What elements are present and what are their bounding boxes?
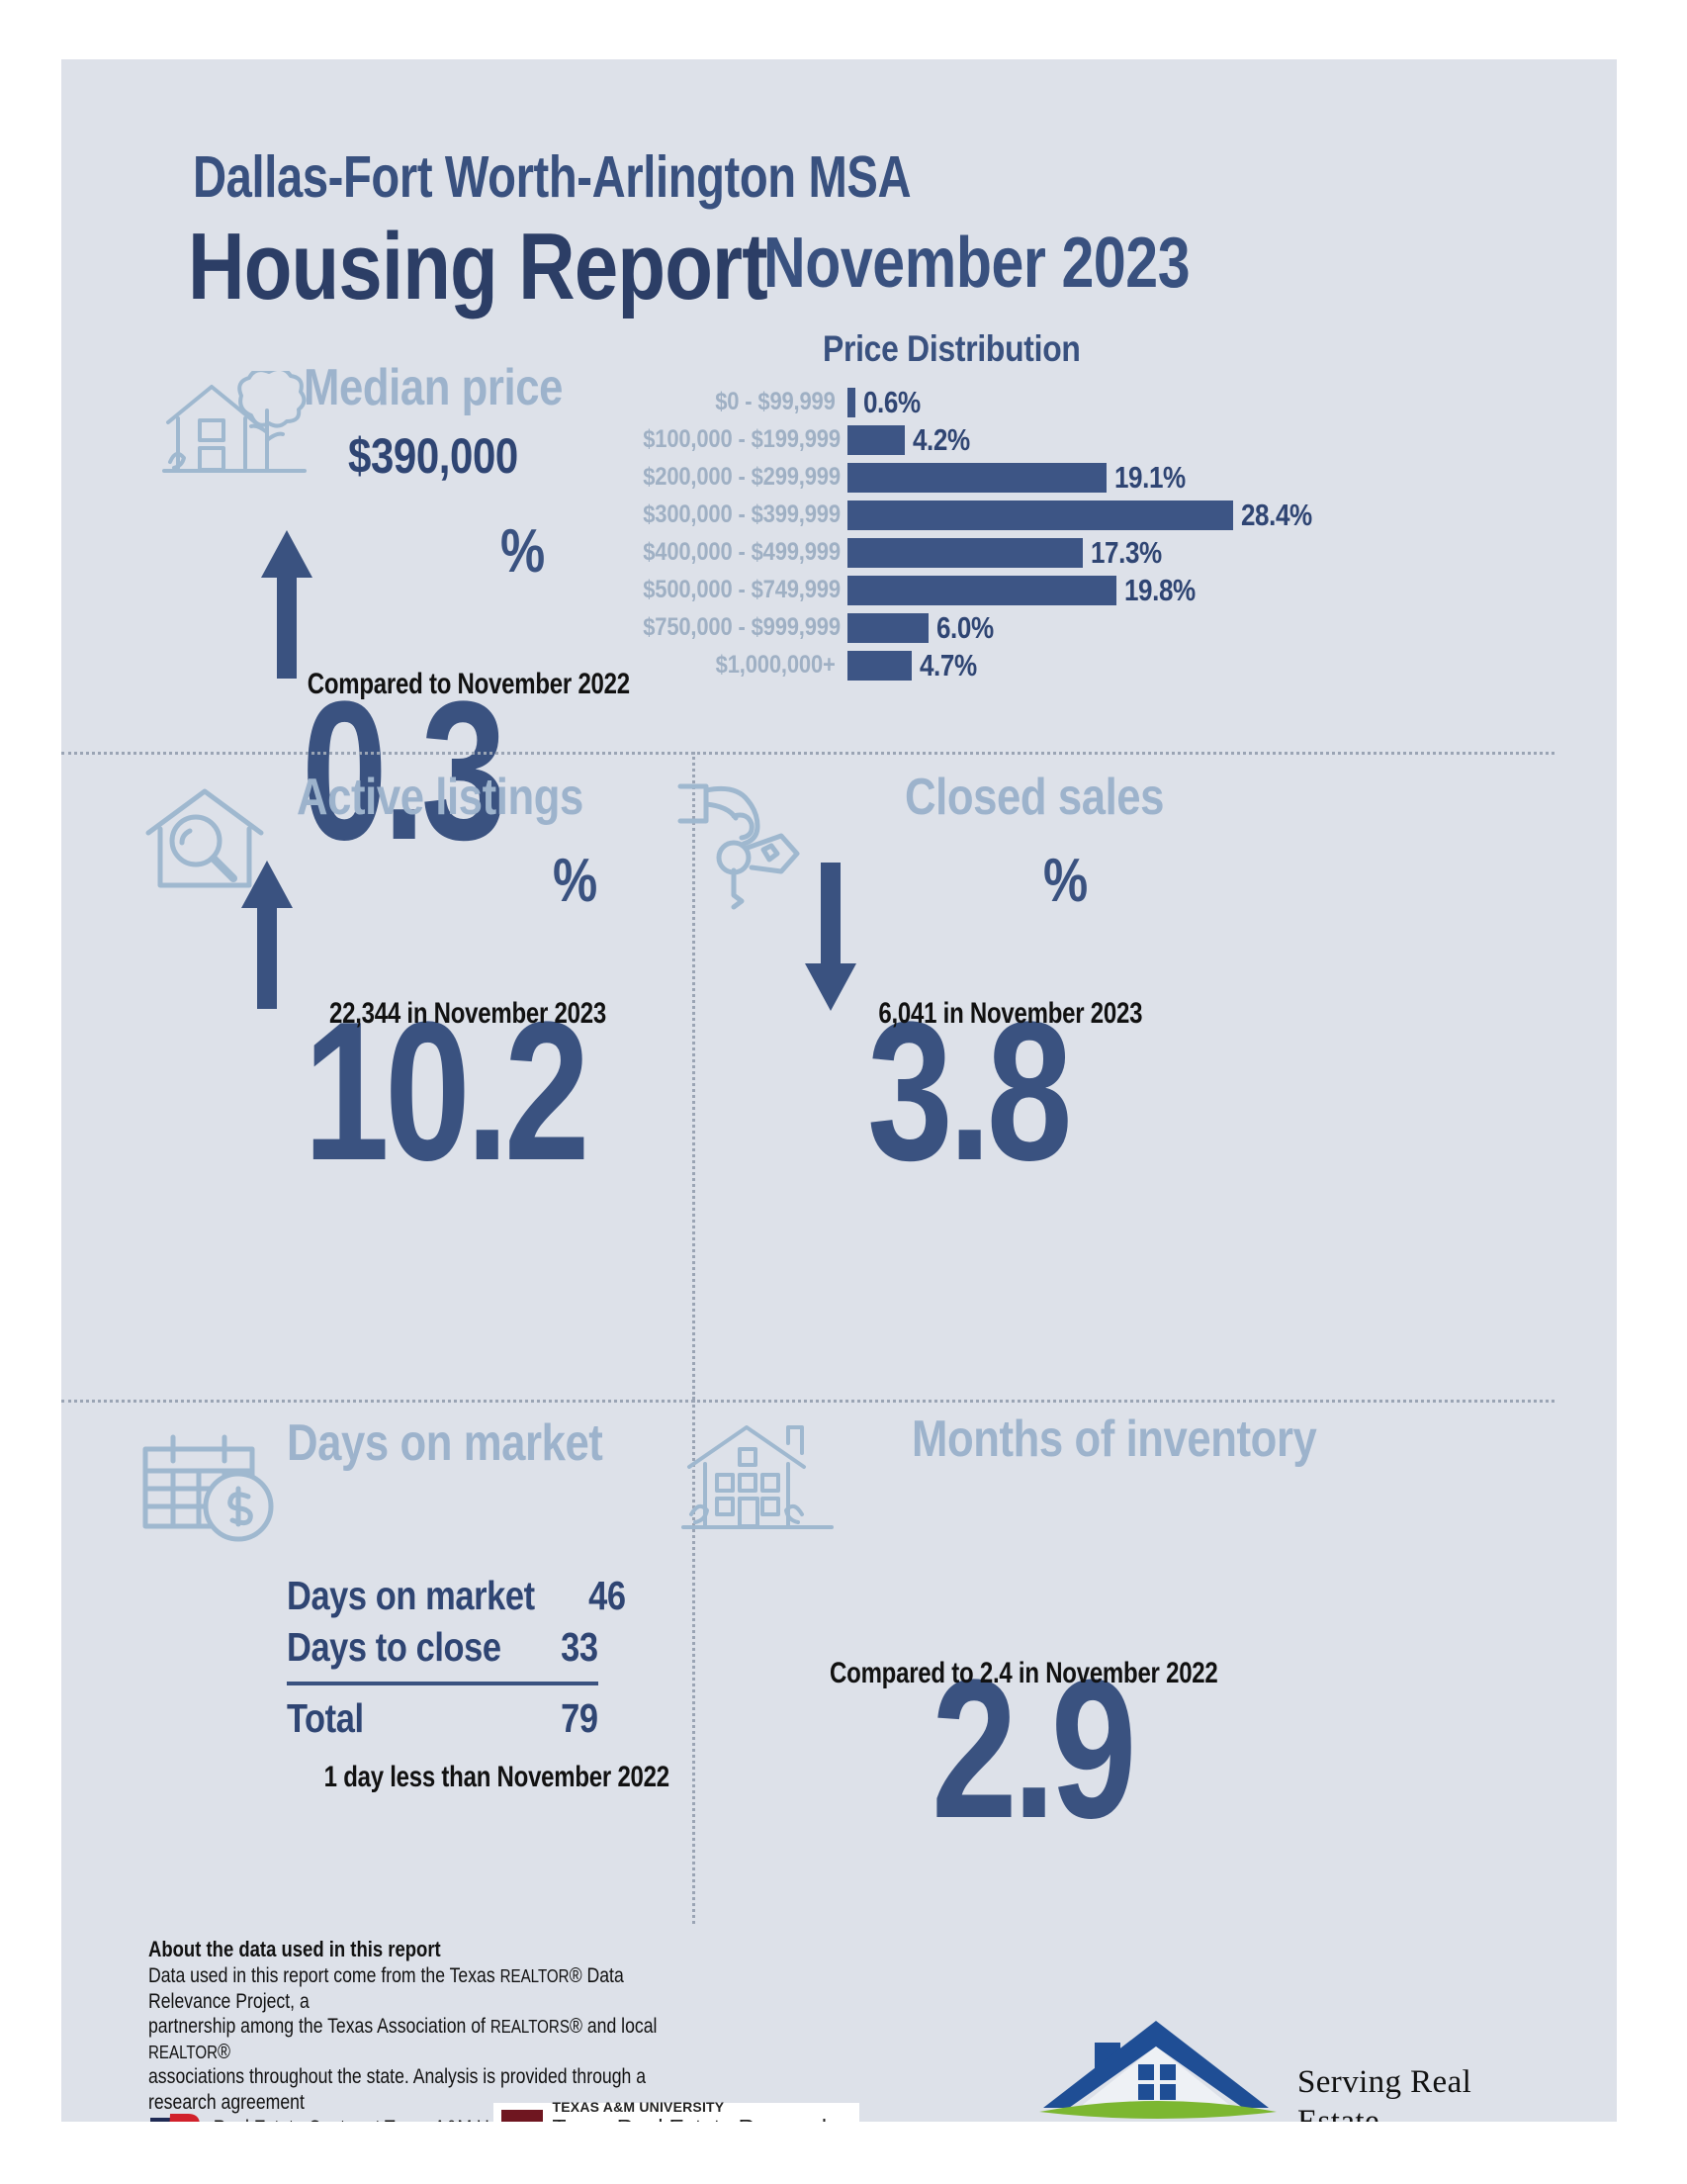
table-rule [287, 1682, 598, 1685]
total-label: Total [287, 1695, 364, 1742]
price-bar-wrapper: 0.6% [847, 385, 932, 420]
house-with-tree-icon [160, 371, 309, 485]
price-bar-value: 28.4% [1241, 498, 1312, 533]
footer-text: partnership among the Texas Association … [148, 2015, 490, 2038]
glar-house-icon [1035, 2013, 1283, 2122]
active-listings-section: Active listings 10.2 % 22,344 in Novembe… [61, 752, 692, 1400]
median-price-caption: Compared to November 2022 [308, 668, 630, 701]
apartment-building-icon [677, 1419, 841, 1548]
price-bar-wrapper: 6.0% [847, 610, 1005, 646]
price-range-label: $0 - $99,999 [643, 388, 847, 416]
calendar-dollar-icon [135, 1427, 279, 1551]
days-on-market-caption: 1 day less than November 2022 [324, 1761, 669, 1794]
months-of-inventory-value: 2.9 [932, 1667, 1132, 1833]
footer-smallcaps: REALTORS [490, 2017, 570, 2037]
table-row: Days on market 46 [287, 1573, 598, 1624]
page-title: Housing Report [188, 213, 767, 321]
price-distribution-row: $500,000 - $749,99919.8% [615, 574, 1564, 606]
texas-real-estate-research-center-label: Texas Real Estate Research Center [553, 2115, 859, 2122]
closed-sales-change: 3.8 [867, 1009, 1068, 1175]
price-bar-value: 6.0% [936, 610, 994, 646]
days-on-market-label: Days on market [287, 1413, 602, 1473]
days-on-market-table: Days on market 46 Days to close 33 Total… [287, 1573, 598, 1747]
texas-am-logo: A̲M̲ TEXAS A&M UNIVERSITY Texas Real Est… [493, 2103, 859, 2122]
months-of-inventory-label: Months of inventory [912, 1410, 1316, 1469]
price-bar-wrapper: 28.4% [847, 498, 1325, 533]
price-range-label: $750,000 - $999,999 [643, 613, 847, 642]
active-listings-caption: 22,344 in November 2023 [329, 997, 606, 1031]
price-bar-value: 17.3% [1091, 535, 1162, 571]
price-bar-value: 19.8% [1124, 573, 1196, 608]
down-arrow-icon [803, 863, 858, 1011]
report-month: November 2023 [763, 223, 1190, 304]
footer-smallcaps: REALTOR [500, 1966, 570, 1986]
price-bar [847, 425, 905, 455]
footer-body: Data used in this report come from the T… [148, 1963, 664, 2122]
row-label: Days on market [287, 1573, 535, 1619]
price-distribution-chart: $0 - $99,9990.6%$100,000 - $199,9994.2%$… [615, 386, 1564, 686]
median-percent-symbol: % [500, 516, 545, 587]
footer-text: ® [218, 2041, 230, 2063]
closed-sales-percent-symbol: % [1043, 846, 1088, 916]
texas-am-text-block: TEXAS A&M UNIVERSITY Texas Real Estate R… [553, 2099, 859, 2122]
price-distribution-row: $400,000 - $499,99917.3% [615, 536, 1564, 569]
footer-heading: About the data used in this report [148, 1937, 441, 1962]
hand-keys-icon [672, 776, 811, 915]
price-distribution-row: $300,000 - $399,99928.4% [615, 499, 1564, 531]
price-bar [847, 613, 929, 643]
up-arrow-icon [239, 861, 295, 1009]
footer-line-2: partnership among the Texas Association … [148, 2014, 664, 2064]
price-bar-wrapper: 19.1% [847, 460, 1199, 496]
closed-sales-caption: 6,041 in November 2023 [878, 997, 1142, 1031]
closed-sales-section: Closed sales 3.8 % 6,041 in November 202… [692, 752, 1554, 1400]
price-distribution-row: $100,000 - $199,9994.2% [615, 423, 1564, 456]
row-value: 33 [562, 1624, 598, 1671]
table-row: Days to close 33 [287, 1624, 598, 1676]
texas-realtors-wordmark: TEXAS REALTORS [216, 2116, 512, 2123]
price-distribution-title: Price Distribution [823, 328, 1081, 370]
price-distribution-row: $750,000 - $999,9996.0% [615, 611, 1564, 644]
up-arrow-icon [259, 530, 314, 679]
price-range-label: $500,000 - $749,999 [643, 576, 847, 604]
price-bar-wrapper: 17.3% [847, 535, 1175, 571]
price-range-label: $200,000 - $299,999 [643, 463, 847, 492]
months-of-inventory-caption: Compared to 2.4 in November 2022 [830, 1657, 1217, 1690]
price-bar [847, 538, 1083, 568]
footer-text: ® and local [570, 2015, 658, 2038]
glar-tagline: Serving Real Estate Professionals in Nor… [1297, 2062, 1476, 2122]
months-of-inventory-section: Months of inventory 2.9 Compared to 2.4 … [692, 1400, 1554, 1924]
price-bar-value: 0.6% [863, 385, 921, 420]
price-bar [847, 576, 1116, 605]
table-total-row: Total 79 [287, 1695, 598, 1747]
price-range-label: $300,000 - $399,999 [643, 500, 847, 529]
closed-sales-label: Closed sales [905, 768, 1164, 827]
median-price-value: $390,000 [348, 427, 518, 485]
median-price-label: Median price [304, 358, 563, 417]
price-distribution-row: $1,000,000+4.7% [615, 649, 1564, 682]
price-bar-value: 4.2% [913, 422, 970, 458]
price-bar [847, 651, 912, 681]
price-distribution-row: $0 - $99,9990.6% [615, 386, 1564, 418]
texas-realtors-logo: TEXAS REALTORS [148, 2112, 538, 2122]
texas-realtors-mark-icon [148, 2112, 206, 2122]
footer-line-1: Data used in this report come from the T… [148, 1963, 664, 2014]
row-value: 46 [588, 1573, 625, 1619]
active-listings-change: 10.2 [304, 1009, 585, 1175]
price-distribution-row: $200,000 - $299,99919.1% [615, 461, 1564, 494]
active-listings-label: Active listings [297, 768, 583, 827]
price-range-label: $100,000 - $199,999 [643, 425, 847, 454]
price-bar [847, 388, 855, 417]
price-bar-wrapper: 19.8% [847, 573, 1208, 608]
price-bar [847, 500, 1233, 530]
price-bar [847, 463, 1107, 493]
active-listings-percent-symbol: % [553, 846, 597, 916]
glar-tagline-line-1: Serving Real Estate [1297, 2062, 1476, 2122]
price-range-label: $400,000 - $499,999 [643, 538, 847, 567]
texas-am-mark-icon: A̲M̲ [501, 2110, 543, 2122]
price-bar-value: 4.7% [920, 648, 977, 683]
glar-logo: GLAR Serving Real Estate Professionals i… [1035, 2013, 1283, 2122]
price-bar-wrapper: 4.7% [847, 648, 987, 683]
report-page: Dallas-Fort Worth-Arlington MSA Housing … [61, 59, 1617, 2122]
price-range-label: $1,000,000+ [643, 651, 847, 680]
page-subtitle-msa: Dallas-Fort Worth-Arlington MSA [193, 143, 911, 211]
price-bar-wrapper: 4.2% [847, 422, 980, 458]
texas-am-university-label: TEXAS A&M UNIVERSITY [553, 2099, 859, 2115]
price-bar-value: 19.1% [1114, 460, 1186, 496]
row-label: Days to close [287, 1624, 501, 1671]
footer-text: Data used in this report come from the T… [148, 1964, 500, 1987]
total-value: 79 [562, 1695, 598, 1742]
footer-smallcaps: REALTOR [148, 2043, 218, 2062]
